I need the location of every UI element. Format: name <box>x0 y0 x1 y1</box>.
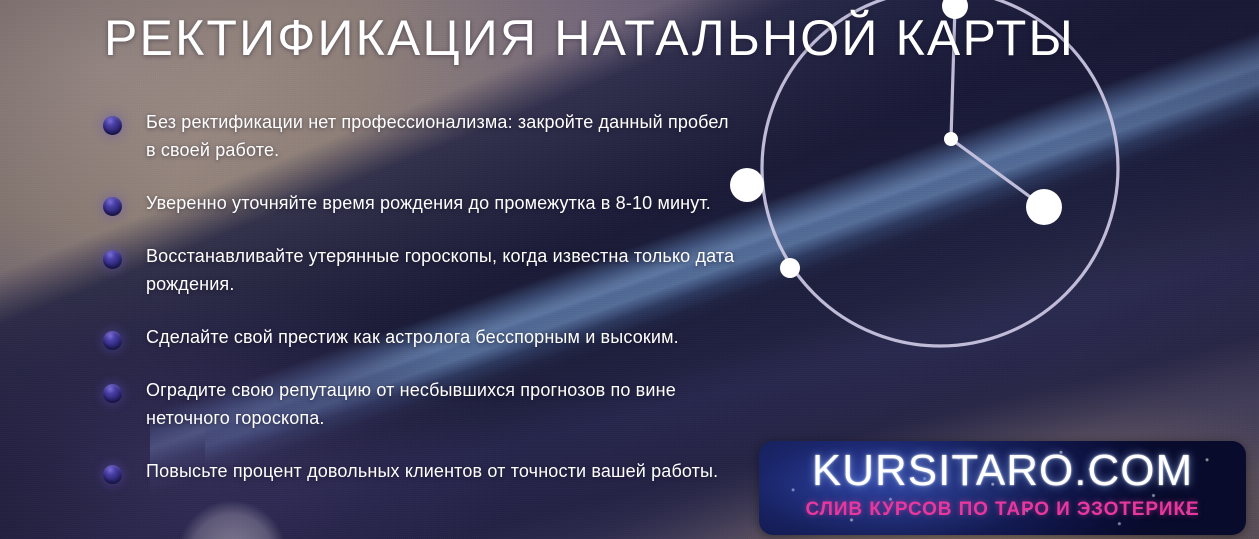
list-item-text: Оградите свою репутацию от несбывшихся п… <box>146 380 676 428</box>
list-item: Оградите свою репутацию от несбывшихся п… <box>100 376 740 432</box>
bullet-dot-icon <box>103 465 122 484</box>
list-item-text: Восстанавливайте утерянные гороскопы, ко… <box>146 246 734 294</box>
list-item: Сделайте свой престиж как астролога бесс… <box>100 323 740 351</box>
bullet-dot-icon <box>103 116 122 135</box>
list-item-text: Сделайте свой престиж как астролога бесс… <box>146 327 679 347</box>
list-item-text: Повысьте процент довольных клиентов от т… <box>146 461 718 481</box>
list-item-text: Без ректификации нет профессионализма: з… <box>146 112 729 160</box>
page-title: РЕКТИФИКАЦИЯ НАТАЛЬНОЙ КАРТЫ <box>104 9 1075 68</box>
watermark-tagline: СЛИВ КУРСОВ ПО ТАРО И ЭЗОТЕРИКЕ <box>759 498 1246 522</box>
watermark-domain: KURSITARO.COM <box>759 445 1246 497</box>
constellation-node-center-icon <box>944 132 958 146</box>
list-item: Без ректификации нет профессионализма: з… <box>100 108 740 164</box>
constellation-node-right-large-icon <box>1026 189 1062 225</box>
constellation-node-left-small-icon <box>780 258 800 278</box>
bullet-dot-icon <box>103 384 122 403</box>
bullet-dot-icon <box>103 197 122 216</box>
constellation-link-right <box>951 139 1044 207</box>
site-watermark-badge[interactable]: KURSITARO.COM СЛИВ КУРСОВ ПО ТАРО И ЭЗОТ… <box>759 441 1246 535</box>
bullet-dot-icon <box>103 331 122 350</box>
list-item-text: Уверенно уточняйте время рождения до про… <box>146 193 711 213</box>
benefit-list: Без ректификации нет профессионализма: з… <box>100 108 740 485</box>
list-item: Восстанавливайте утерянные гороскопы, ко… <box>100 242 740 298</box>
list-item: Уверенно уточняйте время рождения до про… <box>100 189 740 217</box>
bullet-dot-icon <box>103 250 122 269</box>
list-item: Повысьте процент довольных клиентов от т… <box>100 457 740 485</box>
promo-slide: РЕКТИФИКАЦИЯ НАТАЛЬНОЙ КАРТЫ Без ректифи… <box>0 0 1259 539</box>
